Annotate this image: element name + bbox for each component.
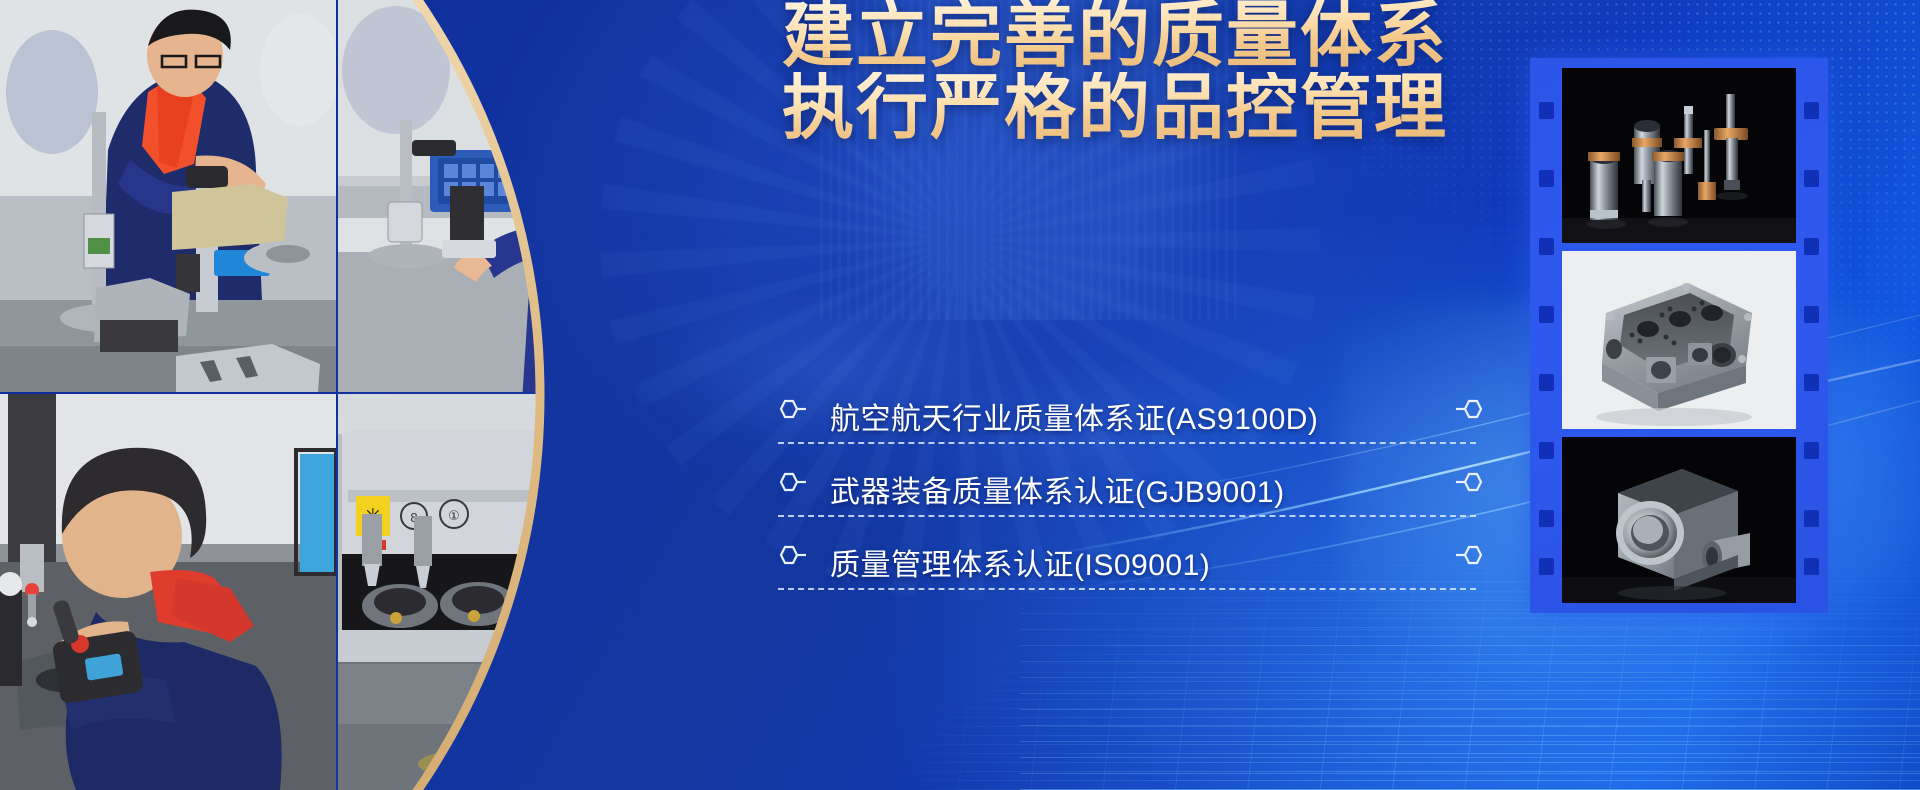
product-filmstrip <box>1530 58 1828 613</box>
center-content: 建立完善的质量体系 执行严格的品控管理 航空航天行业质量体系证(AS9100D) <box>700 0 1480 790</box>
hexagon-bullet-end-icon <box>1456 544 1490 566</box>
hexagon-bullet-icon <box>772 544 806 566</box>
filmstrip-perforation <box>1804 558 1819 575</box>
certification-item: 质量管理体系认证(IS09001) <box>772 534 1472 607</box>
product-photo-precision-shafts <box>1562 68 1796 243</box>
headline-line-2: 执行严格的品控管理 <box>782 72 1448 144</box>
filmstrip-perforation <box>1539 170 1554 187</box>
headline-line-1: 建立完善的质量体系 <box>782 0 1448 72</box>
filmstrip-perforation <box>1539 238 1554 255</box>
product-photo-bearing-block <box>1562 437 1796 603</box>
divider-dashed <box>778 588 1476 590</box>
certification-item: 武器装备质量体系认证(GJB9001) <box>772 461 1472 534</box>
divider-dashed <box>778 515 1476 517</box>
hexagon-bullet-icon <box>772 398 806 420</box>
certification-label: 航空航天行业质量体系证(AS9100D) <box>830 394 1318 438</box>
filmstrip-perforation <box>1804 170 1819 187</box>
hexagon-bullet-end-icon <box>1456 398 1490 420</box>
gold-arc-frame <box>0 0 720 790</box>
filmstrip-perforation <box>1539 558 1554 575</box>
headline: 建立完善的质量体系 执行严格的品控管理 <box>782 0 1448 144</box>
filmstrip-perforation <box>1804 442 1819 459</box>
certification-label: 武器装备质量体系认证(GJB9001) <box>830 467 1285 511</box>
filmstrip-perforation <box>1539 102 1554 119</box>
certification-item: 航空航天行业质量体系证(AS9100D) <box>772 388 1472 461</box>
filmstrip-perforation <box>1804 102 1819 119</box>
filmstrip-perforation <box>1539 374 1554 391</box>
filmstrip-perforation <box>1804 510 1819 527</box>
certification-label: 质量管理体系认证(IS09001) <box>830 540 1210 584</box>
product-photo-aluminium-housing <box>1562 251 1796 429</box>
certification-list: 航空航天行业质量体系证(AS9100D) 武器装备质量体系认证(GJB9001) <box>772 388 1472 607</box>
filmstrip-perforation <box>1804 374 1819 391</box>
filmstrip-perforation <box>1804 238 1819 255</box>
hexagon-bullet-end-icon <box>1456 471 1490 493</box>
divider-dashed <box>778 442 1476 444</box>
quality-system-banner: ✳ 8 ① <box>0 0 1920 790</box>
hexagon-bullet-icon <box>772 471 806 493</box>
filmstrip-perforation <box>1539 306 1554 323</box>
filmstrip-photos <box>1562 68 1796 603</box>
filmstrip-perforation <box>1804 306 1819 323</box>
filmstrip-perforation <box>1539 510 1554 527</box>
filmstrip-perforation <box>1539 442 1554 459</box>
